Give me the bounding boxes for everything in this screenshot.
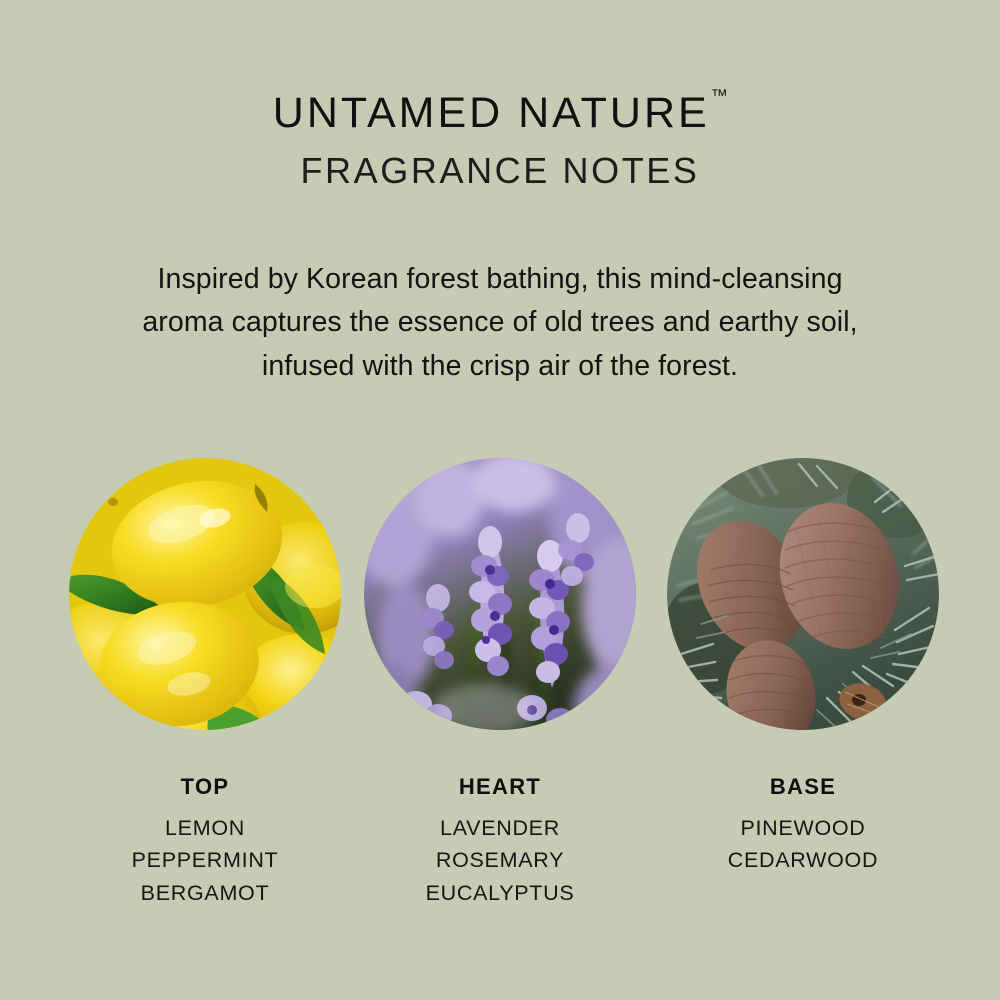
pinecones-photo	[667, 458, 939, 730]
note-list-top: LEMON PEPPERMINT BERGAMOT	[55, 812, 355, 909]
note-title-top: TOP	[55, 774, 355, 800]
brand-name: UNTAMED NATURE	[273, 89, 710, 137]
note-list-heart: LAVENDER ROSEMARY EUCALYPTUS	[350, 812, 650, 909]
note-item: ROSEMARY	[350, 844, 650, 876]
page-subtitle: FRAGRANCE NOTES	[0, 150, 1000, 192]
note-column-heart: HEART LAVENDER ROSEMARY EUCALYPTUS	[350, 458, 650, 909]
note-title-heart: HEART	[350, 774, 650, 800]
note-item: LAVENDER	[350, 812, 650, 844]
page-title: UNTAMED NATURE™	[0, 92, 1000, 136]
note-item: PINEWOOD	[653, 812, 953, 844]
fragrance-notes-row: TOP LEMON PEPPERMINT BERGAMOT	[0, 458, 1000, 898]
note-item: BERGAMOT	[55, 877, 355, 909]
note-item: CEDARWOOD	[653, 844, 953, 876]
note-item: PEPPERMINT	[55, 844, 355, 876]
note-item: LEMON	[55, 812, 355, 844]
note-item: EUCALYPTUS	[350, 877, 650, 909]
trademark-symbol: ™	[711, 86, 729, 105]
lavender-photo	[364, 458, 636, 730]
note-title-base: BASE	[653, 774, 953, 800]
header: UNTAMED NATURE™ FRAGRANCE NOTES	[0, 92, 1000, 192]
description-line-2: aroma captures the essence of old trees …	[70, 301, 930, 344]
note-column-top: TOP LEMON PEPPERMINT BERGAMOT	[55, 458, 355, 909]
note-list-base: PINEWOOD CEDARWOOD	[653, 812, 953, 877]
fragrance-notes-card: UNTAMED NATURE™ FRAGRANCE NOTES Inspired…	[0, 0, 1000, 1000]
description-line-3: infused with the crisp air of the forest…	[70, 345, 930, 388]
note-column-base: BASE PINEWOOD CEDARWOOD	[653, 458, 953, 877]
product-description: Inspired by Korean forest bathing, this …	[70, 258, 930, 388]
lemons-photo	[69, 458, 341, 730]
description-line-1: Inspired by Korean forest bathing, this …	[70, 258, 930, 301]
